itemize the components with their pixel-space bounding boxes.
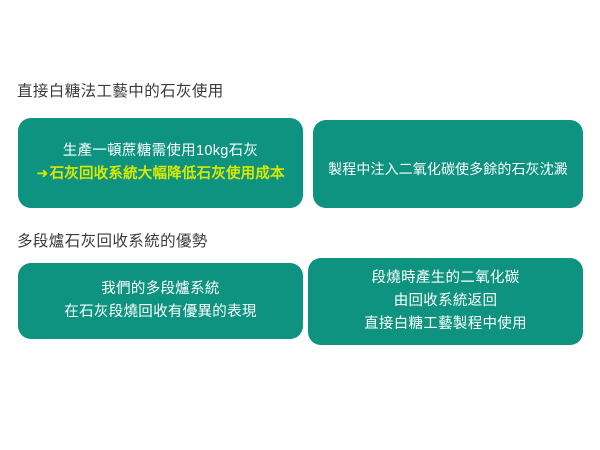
card-line-accent: ➜石灰回收系統大幅降低石灰使用成本 — [36, 163, 285, 186]
card-multi-hearth-performance: 我們的多段爐系統 在石灰段燒回收有優異的表現 — [18, 263, 303, 339]
card-line: 段燒時產生的二氧化碳 — [372, 267, 520, 290]
card-line: 生產一頓蔗糖需使用10kg石灰 — [63, 140, 258, 163]
card-co2-recycle-loop: 段燒時產生的二氧化碳 由回收系統返回 直接白糖工藝製程中使用 — [308, 258, 583, 345]
card-line-accent-label: 石灰回收系統大幅降低石灰使用成本 — [50, 166, 285, 182]
card-line: 我們的多段爐系統 — [101, 278, 219, 301]
card-co2-injection: 製程中注入二氧化碳使多餘的石灰沈澱 — [313, 120, 583, 208]
card-line: 由回收系統返回 — [394, 290, 498, 313]
arrow-right-icon: ➜ — [36, 166, 48, 182]
slide-canvas: 直接白糖法工藝中的石灰使用 生產一頓蔗糖需使用10kg石灰 ➜石灰回收系統大幅降… — [0, 0, 600, 450]
section-heading-lime-usage: 直接白糖法工藝中的石灰使用 — [17, 82, 224, 102]
card-line: 在石灰段燒回收有優異的表現 — [64, 301, 256, 324]
section-heading-multi-hearth-advantages: 多段爐石灰回收系統的優勢 — [17, 232, 208, 252]
card-line: 製程中注入二氧化碳使多餘的石灰沈澱 — [328, 158, 568, 181]
card-lime-usage-cost: 生產一頓蔗糖需使用10kg石灰 ➜石灰回收系統大幅降低石灰使用成本 — [18, 118, 303, 208]
card-line: 直接白糖工藝製程中使用 — [364, 313, 527, 336]
